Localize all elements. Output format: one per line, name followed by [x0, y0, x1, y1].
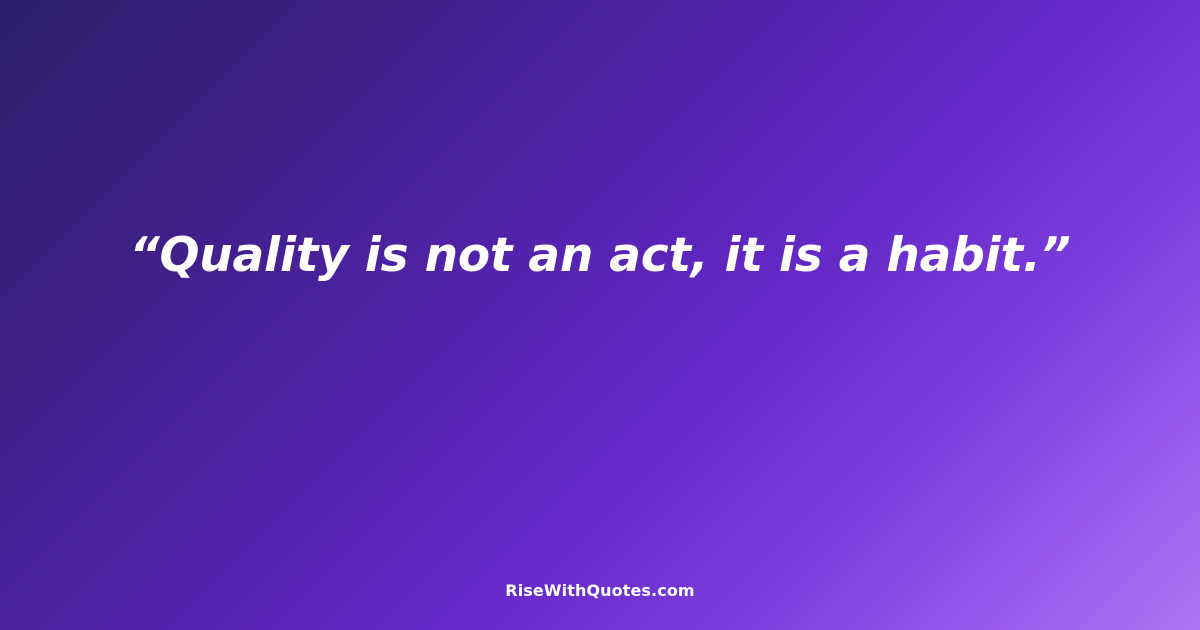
footer-container: RiseWithQuotes.com	[0, 581, 1200, 600]
quote-text: “Quality is not an act, it is a habit.”	[129, 228, 1070, 283]
quote-card: “Quality is not an act, it is a habit.” …	[0, 0, 1200, 630]
site-attribution: RiseWithQuotes.com	[505, 581, 694, 600]
quote-container: “Quality is not an act, it is a habit.”	[0, 228, 1200, 283]
